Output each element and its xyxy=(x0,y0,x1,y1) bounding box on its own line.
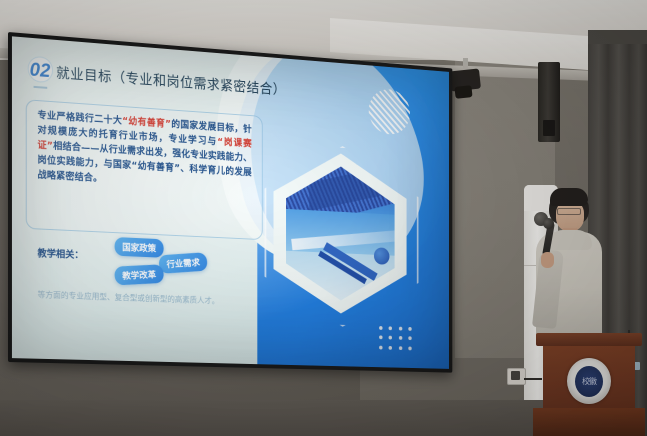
wall-skirting xyxy=(0,400,560,436)
presenter-glasses-icon xyxy=(557,208,581,215)
presenter-hand xyxy=(541,252,554,268)
podium-emblem-glyph: 校徽 xyxy=(575,366,603,397)
curtain-rail xyxy=(588,30,647,44)
presenter-hood xyxy=(548,230,592,250)
podium-base xyxy=(533,408,645,436)
microphone-head-icon xyxy=(543,218,554,229)
photo-sphere xyxy=(374,247,390,265)
tag-group-label: 教学相关： xyxy=(37,245,83,261)
tag-national-policy: 国家政策 xyxy=(115,237,164,258)
presenter-fringe xyxy=(550,188,588,206)
slide-body-text: 专业严格践行二十大“幼有善育”的国家发展目标，针对规模庞大的托育行业市场，专业学… xyxy=(37,108,251,195)
highlighted-phrase: “幼有善育” xyxy=(122,116,171,130)
body-text-run: 专业严格践行二十大 xyxy=(37,110,122,127)
camera-lens-icon xyxy=(454,85,472,99)
wall-outlet-socket-icon xyxy=(511,371,520,380)
lecture-room-scene: 校徽 xyxy=(0,0,647,436)
projection-screen: 02 就业目标（专业和岗位需求紧密结合） 专业严格践行二十大“幼有善育”的国家发… xyxy=(8,32,452,373)
speaker-grill-icon xyxy=(543,120,555,136)
screen-surface: 02 就业目标（专业和岗位需求紧密结合） 专业严格践行二十大“幼有善育”的国家发… xyxy=(12,36,449,369)
dot-grid-icon xyxy=(379,326,415,353)
podium-top xyxy=(536,333,642,346)
tag-teaching-reform: 教学改革 xyxy=(114,264,164,285)
power-cable xyxy=(524,378,542,380)
slide-title-number: 02 xyxy=(30,60,51,83)
tag-industry-demand: 行业需求 xyxy=(158,252,208,274)
